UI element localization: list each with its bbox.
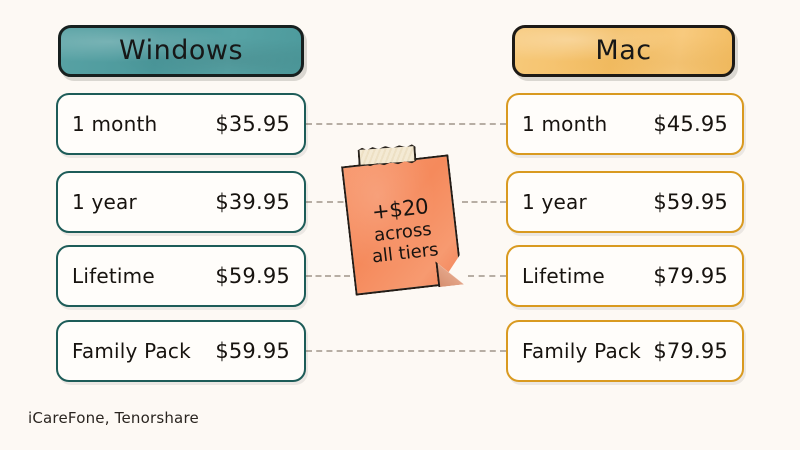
column-header-windows-label: Windows <box>119 37 243 64</box>
column-header-windows: Windows <box>58 25 304 77</box>
tier-label: 1 year <box>522 190 587 214</box>
price-row-mac-lifetime: Lifetime $79.95 <box>506 245 744 307</box>
price-value: $79.95 <box>653 339 728 363</box>
column-header-mac: Mac <box>512 25 735 77</box>
price-row-windows-family-pack: Family Pack $59.95 <box>56 320 306 382</box>
price-value: $39.95 <box>215 190 290 214</box>
comparison-canvas: Windows Mac 1 month $35.95 1 year $39.95… <box>0 0 800 450</box>
price-row-mac-1-month: 1 month $45.95 <box>506 93 744 155</box>
price-value: $35.95 <box>215 112 290 136</box>
price-value: $45.95 <box>653 112 728 136</box>
tier-label: 1 month <box>522 112 607 136</box>
tier-label: Lifetime <box>522 264 605 288</box>
connector-line-4 <box>306 350 506 352</box>
column-header-mac-label: Mac <box>595 37 651 64</box>
sticky-note-text: +$20 across all tiers <box>341 154 463 295</box>
price-value: $79.95 <box>653 264 728 288</box>
price-value: $59.95 <box>653 190 728 214</box>
tier-label: Family Pack <box>522 339 641 363</box>
price-value: $59.95 <box>215 264 290 288</box>
footer-caption: iCareFone, Tenorshare <box>28 409 199 427</box>
sticky-note-annotation: +$20 across all tiers <box>341 154 463 295</box>
tier-label: Family Pack <box>72 339 191 363</box>
connector-line-3b <box>468 275 506 277</box>
price-row-windows-1-month: 1 month $35.95 <box>56 93 306 155</box>
price-row-windows-1-year: 1 year $39.95 <box>56 171 306 233</box>
connector-line-1 <box>306 123 506 125</box>
tier-label: 1 month <box>72 112 157 136</box>
connector-line-3 <box>306 275 350 277</box>
price-value: $59.95 <box>215 339 290 363</box>
tier-label: Lifetime <box>72 264 155 288</box>
price-row-windows-lifetime: Lifetime $59.95 <box>56 245 306 307</box>
tier-label: 1 year <box>72 190 137 214</box>
price-row-mac-1-year: 1 year $59.95 <box>506 171 744 233</box>
price-row-mac-family-pack: Family Pack $79.95 <box>506 320 744 382</box>
connector-line-2b <box>462 201 506 203</box>
